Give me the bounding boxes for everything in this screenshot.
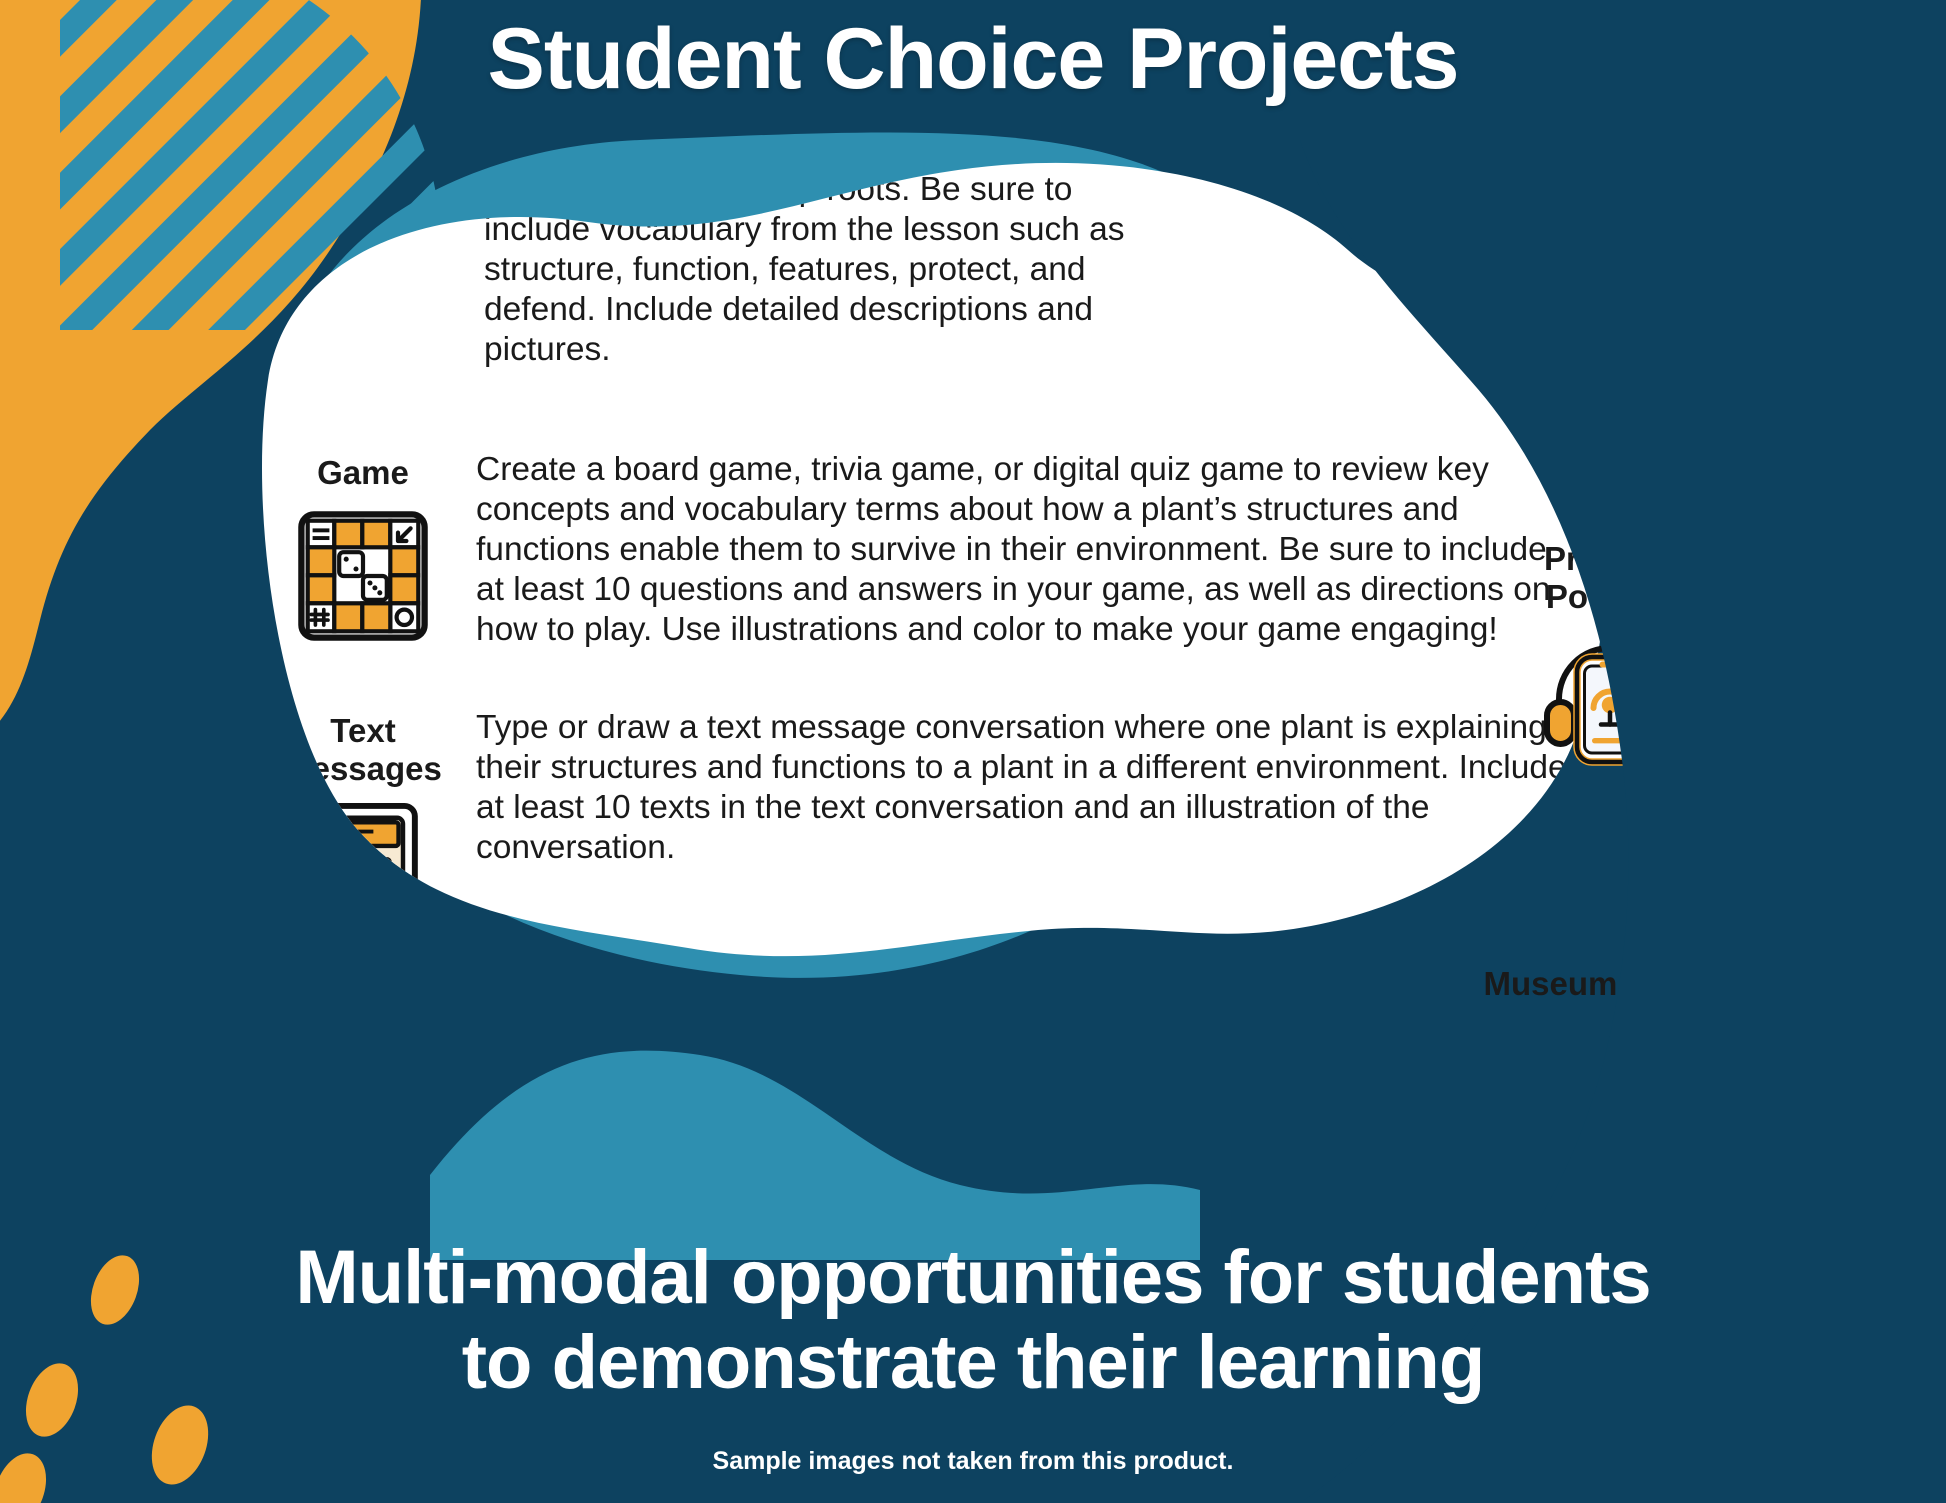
page-title: Student Choice Projects: [0, 12, 1946, 107]
project-item-museum-exhibit: Museum Exhibit: [1480, 965, 1740, 1003]
project-label-column: Game: [258, 450, 468, 654]
project-label-produce-podcast: Produce Podcast: [1480, 540, 1740, 616]
project-text-game: Create a board game, trivia game, or dig…: [468, 450, 1578, 650]
podcast-icon-wrap: [1480, 630, 1740, 780]
project-row-game: Game: [258, 450, 1578, 654]
project-label-museum-exhibit: Museum Exhibit: [1480, 965, 1740, 1003]
footer-headline: Multi-modal opportunities for students t…: [0, 1235, 1946, 1405]
footer-headline-line2: to demonstrate their learning: [0, 1320, 1946, 1405]
poster-canvas: Student Choice Projects …ts help them su…: [0, 0, 1946, 1503]
project-label-game: Game: [258, 454, 468, 492]
footer-headline-line1: Multi-modal opportunities for students: [0, 1235, 1946, 1320]
podcast-phone-headphones-icon: [1535, 630, 1685, 780]
footer-disclaimer: Sample images not taken from this produc…: [0, 1447, 1946, 1476]
project-text-text-messages: Type or draw a text message conversation…: [468, 708, 1578, 868]
project-item-produce-podcast: Produce Podcast: [1480, 540, 1740, 780]
board-game-icon: [293, 506, 433, 646]
